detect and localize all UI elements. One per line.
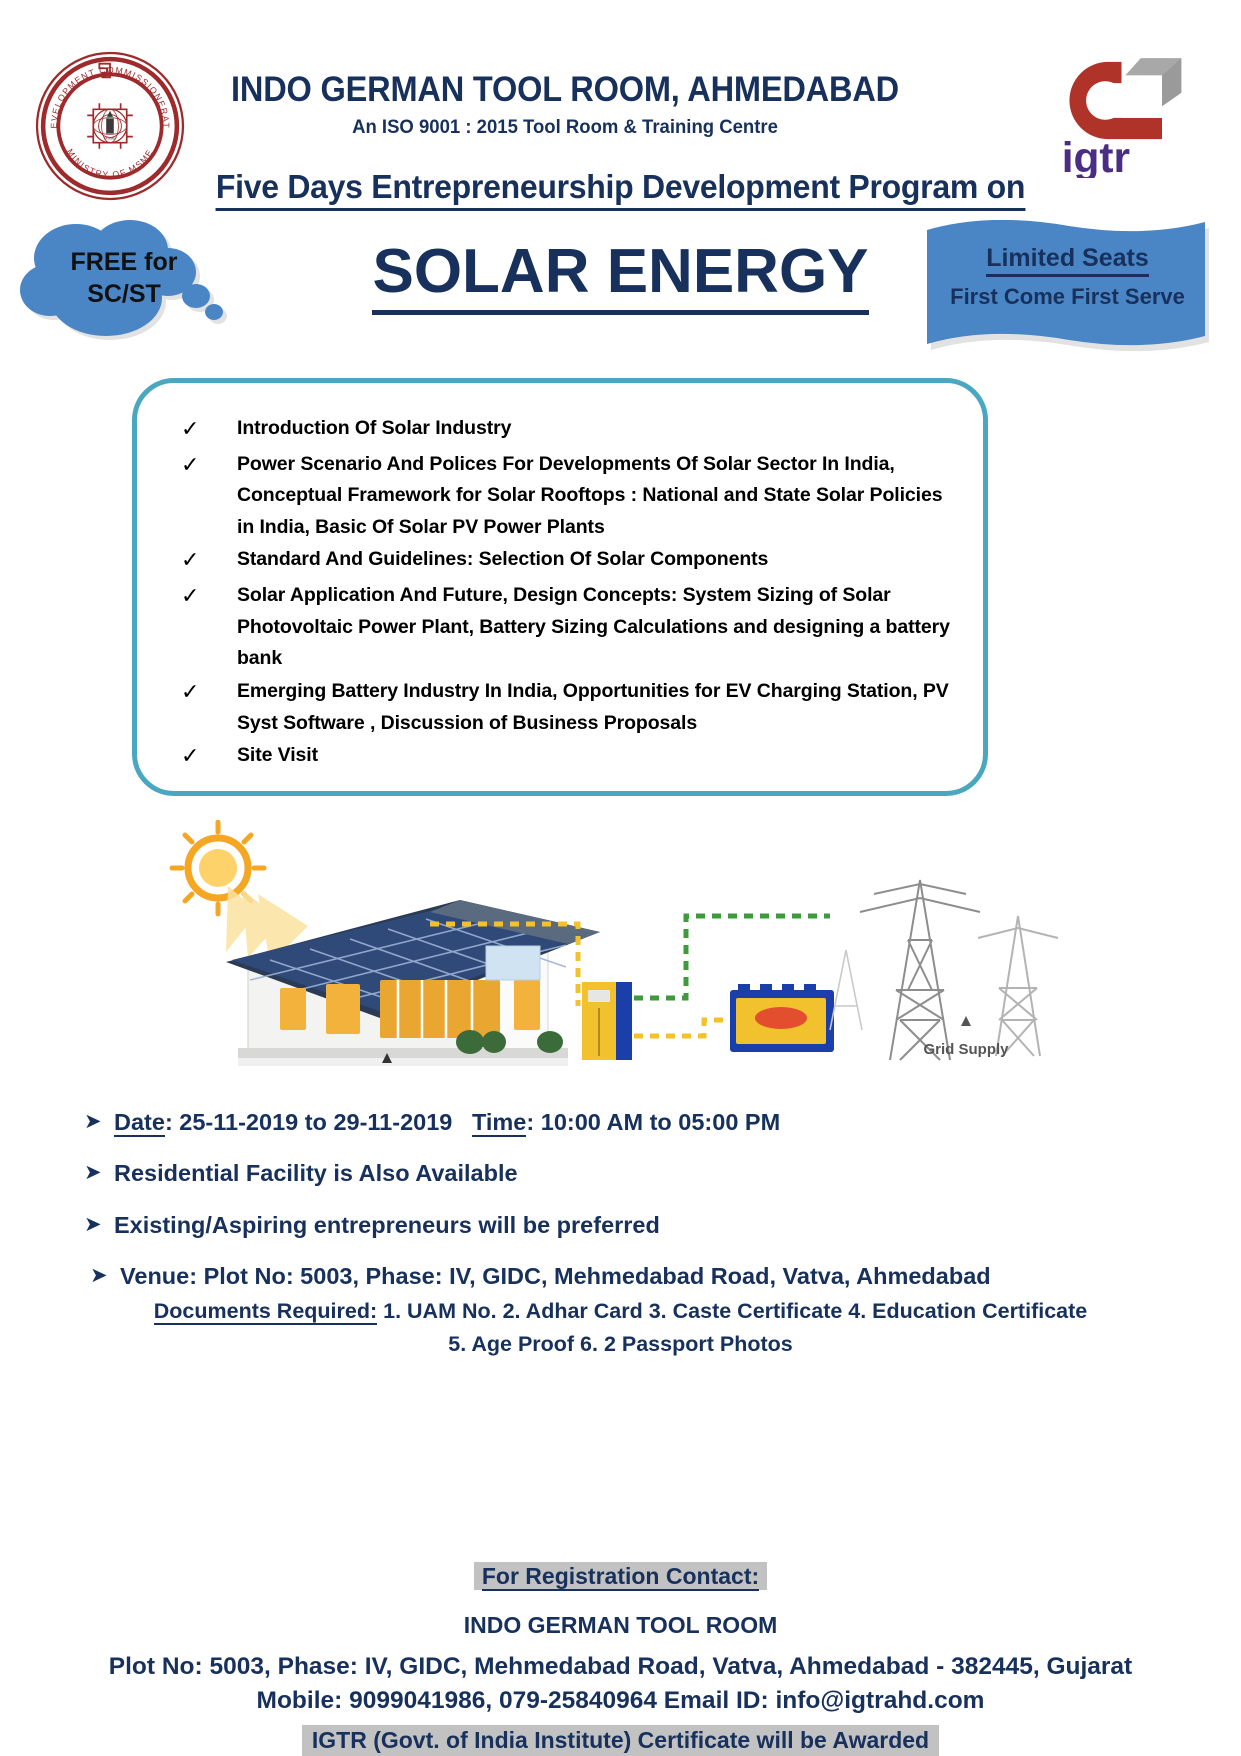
page-header: MSME DEVELOPMENT COMMISSIONERATE MINISTR… (0, 0, 1241, 160)
limited-seats-label: Limited Seats First Come First Serve (930, 244, 1205, 310)
detail-row-date: ➤ Date: 25-11-2019 to 29-11-2019 Time: 1… (0, 1108, 1241, 1137)
ribbon-line-2: First Come First Serve (930, 284, 1205, 310)
residential-text: Residential Facility is Also Available (114, 1159, 518, 1188)
documents-items-2: 5. Age Proof 6. 2 Passport Photos (0, 1329, 1241, 1359)
list-item: ✓ Standard And Guidelines: Selection Of … (181, 544, 961, 579)
solar-system-illustration: Grid Supply (130, 820, 1060, 1090)
header-titles: INDO GERMAN TOOL ROOM, AHMEDABAD An ISO … (195, 70, 935, 139)
ribbon-line-1: Limited Seats (986, 244, 1149, 277)
detail-row-preference: ➤ Existing/Aspiring entrepreneurs will b… (0, 1211, 1241, 1240)
preference-text: Existing/Aspiring entrepreneurs will be … (114, 1211, 660, 1240)
cloud-line-2: SC/ST (44, 278, 204, 310)
list-item: ✓ Power Scenario And Polices For Develop… (181, 449, 961, 544)
check-icon: ✓ (181, 676, 237, 711)
organization-subtitle: An ISO 9001 : 2015 Tool Room & Training … (214, 116, 917, 139)
list-item: ✓ Introduction Of Solar Industry (181, 413, 961, 448)
certificate-badge: IGTR (Govt. of India Institute) Certific… (302, 1725, 939, 1756)
date-value: : 25-11-2019 to 29-11-2019 (165, 1109, 452, 1135)
list-item: ✓ Solar Application And Future, Design C… (181, 580, 961, 675)
time-value: : 10:00 AM to 05:00 PM (526, 1109, 780, 1135)
igtr-logo-icon: igtr (1054, 50, 1189, 178)
detail-row-venue: ➤ Venue: Plot No: 5003, Phase: IV, GIDC,… (0, 1262, 1241, 1291)
venue-text: Venue: Plot No: 5003, Phase: IV, GIDC, M… (120, 1262, 991, 1291)
topic-text: Site Visit (237, 740, 961, 772)
title-zone: Five Days Entrepreneurship Development P… (0, 168, 1241, 353)
footer-contact: For Registration Contact: INDO GERMAN TO… (0, 1562, 1241, 1756)
detail-row-residential: ➤ Residential Facility is Also Available (0, 1159, 1241, 1188)
arrow-bullet-icon: ➤ (84, 1211, 114, 1237)
registration-heading: For Registration Contact: (474, 1562, 767, 1590)
topics-list: ✓ Introduction Of Solar Industry ✓ Power… (137, 383, 983, 775)
footer-organization: INDO GERMAN TOOL ROOM (0, 1612, 1241, 1639)
arrow-bullet-icon: ➤ (90, 1262, 120, 1288)
topic-text: Power Scenario And Polices For Developme… (237, 449, 961, 544)
date-label: Date (114, 1109, 165, 1137)
check-icon: ✓ (181, 413, 237, 448)
grid-supply-label: Grid Supply (923, 1041, 1009, 1058)
free-scst-label: FREE for SC/ST (44, 246, 204, 310)
topic-text: Standard And Guidelines: Selection Of So… (237, 544, 961, 576)
documents-label: Documents Required: (154, 1299, 377, 1325)
arrow-bullet-icon: ➤ (84, 1108, 114, 1134)
topic-text: Introduction Of Solar Industry (237, 413, 961, 445)
program-title: Five Days Entrepreneurship Development P… (19, 168, 1223, 206)
documents-line-1: Documents Required: 1. UAM No. 2. Adhar … (0, 1296, 1241, 1326)
svg-text:MSME: MSME (104, 137, 116, 141)
event-details: ➤ Date: 25-11-2019 to 29-11-2019 Time: 1… (0, 1108, 1241, 1359)
documents-required: Documents Required: 1. UAM No. 2. Adhar … (0, 1296, 1241, 1359)
list-item: ✓ Site Visit (181, 740, 961, 775)
time-label: Time (472, 1109, 526, 1137)
footer-contact-line: Mobile: 9099041986, 079-25840964 Email I… (0, 1687, 1241, 1715)
topics-box: ✓ Introduction Of Solar Industry ✓ Power… (132, 378, 988, 796)
organization-name: INDO GERMAN TOOL ROOM, AHMEDABAD (221, 70, 909, 110)
topic-text: Emerging Battery Industry In India, Oppo… (237, 676, 961, 739)
date-time-text: Date: 25-11-2019 to 29-11-2019 Time: 10:… (114, 1108, 780, 1137)
check-icon: ✓ (181, 740, 237, 775)
list-item: ✓ Emerging Battery Industry In India, Op… (181, 676, 961, 739)
check-icon: ✓ (181, 580, 237, 615)
arrow-bullet-icon: ➤ (84, 1159, 114, 1185)
documents-items-1: 1. UAM No. 2. Adhar Card 3. Caste Certif… (383, 1299, 1087, 1323)
footer-address: Plot No: 5003, Phase: IV, GIDC, Mehmedab… (0, 1653, 1241, 1681)
cloud-line-1: FREE for (44, 246, 204, 278)
check-icon: ✓ (181, 449, 237, 484)
check-icon: ✓ (181, 544, 237, 579)
topic-text: Solar Application And Future, Design Con… (237, 580, 961, 675)
